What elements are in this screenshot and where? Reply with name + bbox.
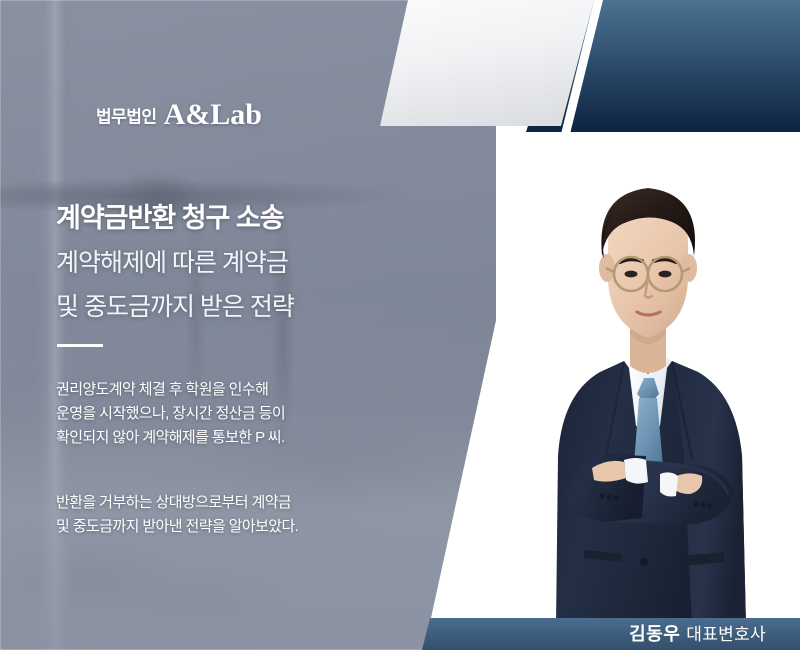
paragraph-1-line-1: 권리양도계약 체결 후 학원을 인수해	[56, 378, 285, 402]
paragraph-2-line-2: 및 중도금까지 받아낸 전략을 알아보았다.	[56, 515, 298, 539]
paragraph-2-line-1: 반환을 거부하는 상대방으로부터 계약금	[56, 491, 298, 515]
attorney-portrait	[496, 126, 800, 626]
title-divider	[57, 344, 103, 347]
promo-banner: 법무법인A&Lab 계약금반환 청구 소송 계약해제에 따른 계약금 및 중도금…	[0, 0, 800, 650]
body-paragraph-1: 권리양도계약 체결 후 학원을 인수해 운영을 시작했으나, 장시간 정산금 등…	[56, 378, 285, 450]
paragraph-1-line-3: 확인되지 않아 계약해제를 통보한 P 씨.	[56, 426, 285, 450]
brand-logo: 법무법인A&Lab	[96, 98, 262, 132]
attorney-name-block: 김동우대표변호사	[629, 618, 766, 650]
subtitle-line-2: 및 중도금까지 받은 전략	[56, 287, 294, 323]
body-paragraph-2: 반환을 거부하는 상대방으로부터 계약금 및 중도금까지 받아낸 전략을 알아보…	[56, 491, 298, 539]
attorney-portrait-image	[496, 126, 800, 626]
paragraph-1-line-2: 운영을 시작했으나, 장시간 정산금 등이	[56, 402, 285, 426]
subtitle-line-1: 계약해제에 따른 계약금	[56, 243, 288, 279]
brand-prefix-label: 법무법인	[96, 108, 157, 127]
page-title: 계약금반환 청구 소송	[56, 196, 284, 235]
attorney-name-band: 김동우대표변호사	[404, 618, 800, 650]
attorney-name-label: 김동우	[629, 624, 680, 644]
brand-name-label: A&Lab	[164, 98, 262, 131]
attorney-title-label: 대표변호사	[686, 625, 766, 644]
